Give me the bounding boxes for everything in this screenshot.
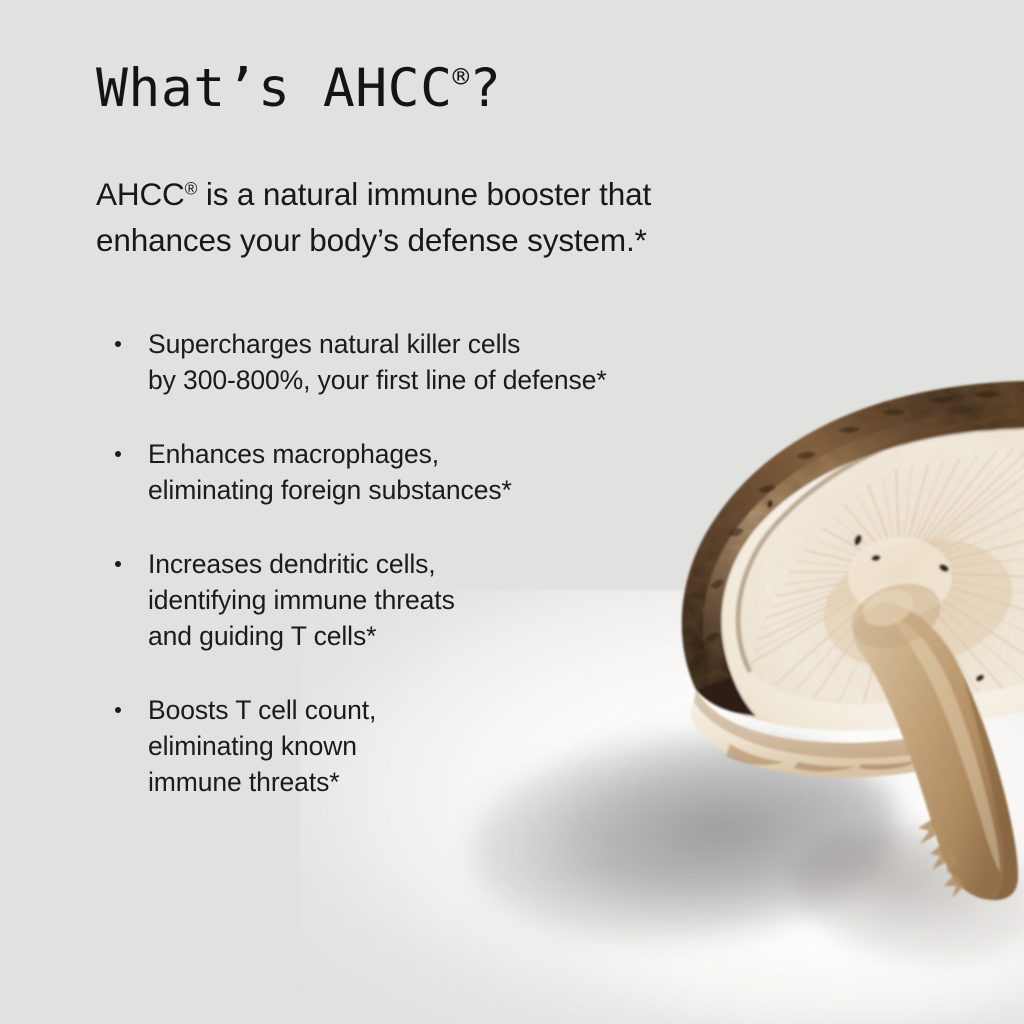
text-content: What’s AHCC®? AHCC® is a natural immune … bbox=[0, 0, 1024, 1024]
page-title: What’s AHCC®? bbox=[96, 60, 502, 118]
list-item: Enhances macrophages, eliminating foreig… bbox=[96, 436, 796, 508]
registered-trademark-icon: ® bbox=[185, 178, 198, 198]
registered-trademark-icon: ® bbox=[453, 61, 470, 93]
list-item: Supercharges natural killer cells by 300… bbox=[96, 326, 796, 398]
list-item-line: eliminating known bbox=[148, 728, 796, 764]
headline-question-mark: ? bbox=[469, 58, 501, 119]
list-item-line: Boosts T cell count, bbox=[148, 692, 796, 728]
list-item: Boosts T cell count, eliminating known i… bbox=[96, 692, 796, 800]
list-item-line: by 300-800%, your first line of defense* bbox=[148, 362, 796, 398]
bullet-dot-icon bbox=[115, 561, 121, 567]
list-item-line: eliminating foreign substances* bbox=[148, 472, 796, 508]
list-item-line: identifying immune threats bbox=[148, 582, 796, 618]
subheading: AHCC® is a natural immune booster thaten… bbox=[96, 172, 856, 263]
promo-card: What’s AHCC®? AHCC® is a natural immune … bbox=[0, 0, 1024, 1024]
list-item-line: Supercharges natural killer cells bbox=[148, 326, 796, 362]
list-item: Increases dendritic cells, identifying i… bbox=[96, 546, 796, 654]
list-item-line: immune threats* bbox=[148, 764, 796, 800]
list-item-line: Increases dendritic cells, bbox=[148, 546, 796, 582]
subheading-brand: AHCC bbox=[96, 176, 185, 212]
subheading-line-2: enhances your body’s defense system.* bbox=[96, 222, 647, 258]
bullet-dot-icon bbox=[115, 341, 121, 347]
bullet-dot-icon bbox=[115, 451, 121, 457]
list-item-line: Enhances macrophages, bbox=[148, 436, 796, 472]
benefits-list: Supercharges natural killer cells by 300… bbox=[96, 326, 796, 800]
list-item-line: and guiding T cells* bbox=[148, 618, 796, 654]
headline-text: What’s AHCC bbox=[96, 58, 453, 119]
subheading-line-1: is a natural immune booster that bbox=[197, 176, 651, 212]
bullet-dot-icon bbox=[115, 707, 121, 713]
